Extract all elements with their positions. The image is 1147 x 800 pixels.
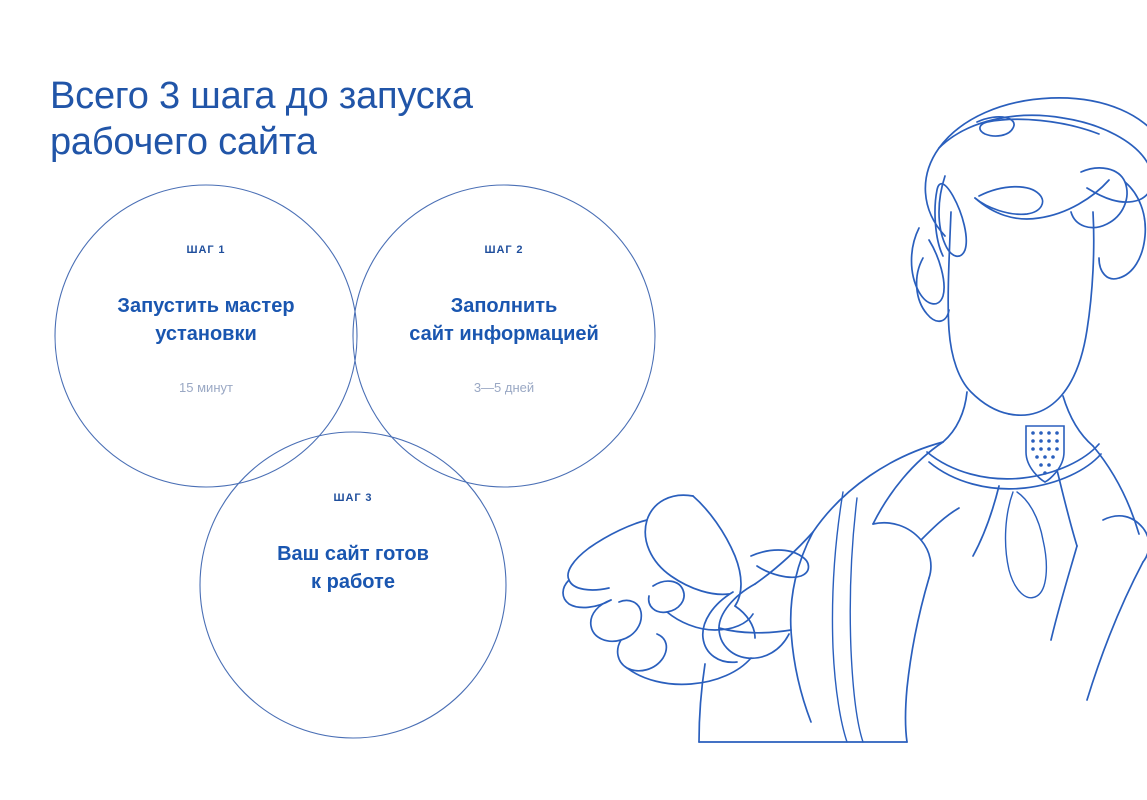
head-outline-path	[948, 212, 1009, 414]
hair-sweep-arrow-path	[977, 117, 1099, 136]
cuff-path	[719, 584, 789, 658]
badge-dot-grid	[1031, 431, 1059, 475]
hair-lock-sweep-path	[975, 180, 1109, 219]
sleeve-fold-path	[751, 550, 809, 577]
thumb-path	[693, 496, 741, 606]
tie-path	[1006, 492, 1047, 598]
collar-front-path	[927, 444, 1099, 479]
step-1-duration: 15 минут	[56, 380, 356, 395]
lapel-notch-right-path	[1103, 516, 1147, 562]
shoulder-left-path	[813, 442, 943, 532]
shield-icon	[1026, 426, 1064, 482]
sideburn-left-path	[912, 228, 945, 304]
lapel-left-edge-path	[873, 523, 931, 578]
jacket-left-side-path	[791, 532, 813, 722]
cuff-inner-path	[703, 592, 737, 662]
wrist-path	[735, 606, 755, 638]
step-2-duration: 3—5 дней	[354, 380, 654, 395]
step-card-3: ШАГ 3 Ваш сайт готов к работе	[203, 492, 503, 596]
hair-tuft-right-path	[1099, 182, 1145, 279]
step-1-title: Запустить мастер установки	[56, 292, 356, 348]
sleeve-seam-1-path	[832, 492, 847, 742]
lapel-left-path	[873, 442, 943, 524]
neck-left-path	[943, 392, 967, 442]
step-card-1: ШАГ 1 Запустить мастер установки 15 мину…	[56, 244, 356, 395]
hair-inner-loop-left-path	[935, 176, 966, 256]
step-card-2: ШАГ 2 Заполнить сайт информацией 3—5 дне…	[354, 244, 654, 395]
venn-circles-svg	[0, 0, 700, 800]
lapel-notch-left-path	[921, 508, 959, 540]
step-3-title: Ваш сайт готов к работе	[203, 540, 503, 596]
collar-front-inner-path	[929, 454, 1101, 489]
slide-root: Всего 3 шага до запуска рабочего сайта Ш…	[0, 0, 1147, 800]
step-3-kicker: ШАГ 3	[203, 492, 503, 504]
lapel-right-path	[1093, 446, 1139, 534]
step-2-title: Заполнить сайт информацией	[354, 292, 654, 348]
step-1-kicker: ШАГ 1	[56, 244, 356, 256]
shirt-collar-right-path	[1057, 470, 1077, 546]
step-2-kicker: ШАГ 2	[354, 244, 654, 256]
jaw-chin-path	[1009, 212, 1094, 415]
sleeve-seam-2-path	[850, 498, 863, 742]
shirt-placket-path	[1051, 546, 1077, 640]
hair-lock-mid-path	[975, 187, 1043, 215]
hair-outline-path	[925, 98, 1147, 236]
venn-diagram: ШАГ 1 Запустить мастер установки 15 мину…	[0, 0, 700, 800]
arm-lower-path	[719, 628, 791, 633]
hair-loop-right-path	[1071, 168, 1127, 228]
jacket-right-front-path	[1087, 562, 1143, 700]
neck-right-path	[1063, 396, 1093, 446]
shield-crest-badge	[1026, 426, 1064, 482]
ear-left-path	[917, 258, 949, 321]
arm-upper-path	[755, 532, 813, 584]
jacket-front-edge-path	[906, 578, 930, 742]
shirt-collar-left-path	[973, 486, 999, 556]
hair-sweep-upper-path	[939, 115, 1147, 202]
